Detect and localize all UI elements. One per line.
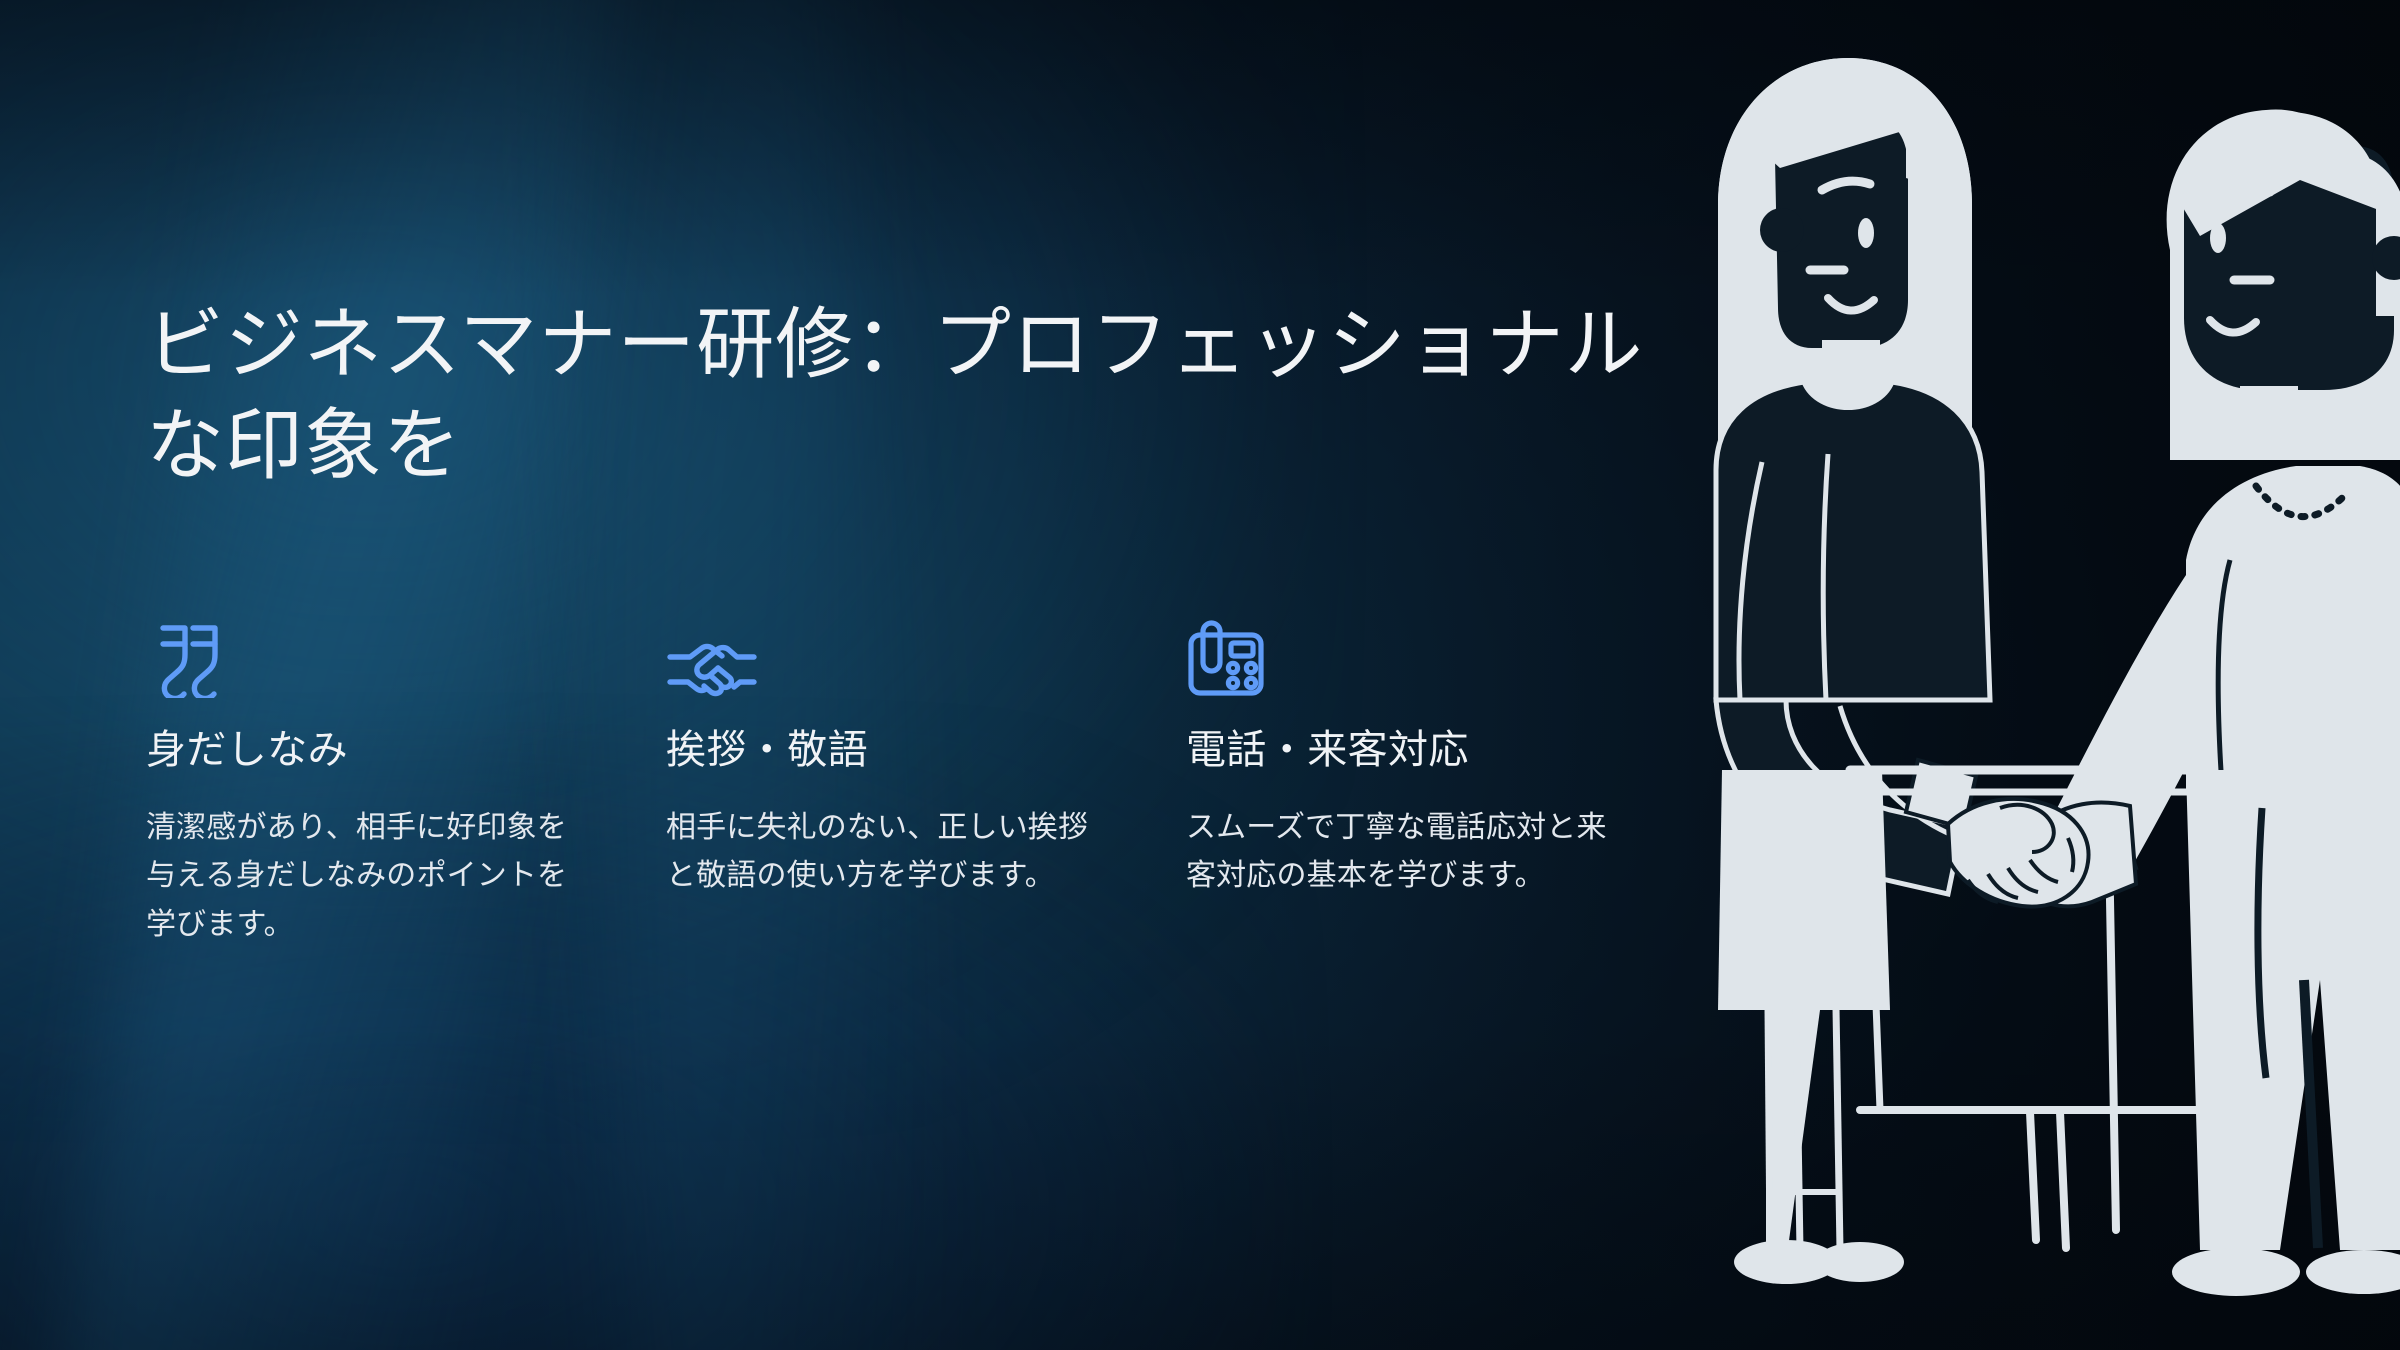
feature-item-greeting: 挨拶・敬語 相手に失礼のない、正しい挨拶と敬語の使い方を学びます。 (666, 616, 1186, 949)
feature-list: 身だしなみ 清潔感があり、相手に好印象を与える身だしなみのポイントを学びます。 (146, 616, 1706, 949)
feature-title: 身だしなみ (146, 726, 546, 776)
feature-description: 相手に失礼のない、正しい挨拶と敬語の使い方を学びます。 (666, 804, 1106, 901)
socks-icon (146, 616, 546, 698)
slide-content: ビジネスマナー研修：プロフェッショナルな印象を 身だしなみ 清潔感があり、 (146, 0, 1666, 1350)
slide-root: ビジネスマナー研修：プロフェッショナルな印象を 身だしなみ 清潔感があり、 (0, 0, 2400, 1350)
feature-title: 電話・来客対応 (1186, 726, 1586, 776)
feature-description: スムーズで丁寧な電話応対と来客対応の基本を学びます。 (1186, 804, 1626, 901)
two-people-handshake-illustration (1700, 0, 2400, 1350)
desk-phone-icon (1186, 616, 1586, 698)
handshake-icon (666, 616, 1066, 698)
feature-description: 清潔感があり、相手に好印象を与える身だしなみのポイントを学びます。 (146, 804, 586, 950)
feature-item-grooming: 身だしなみ 清潔感があり、相手に好印象を与える身だしなみのポイントを学びます。 (146, 616, 666, 949)
figure-left (1716, 58, 1990, 1284)
handshake-hands (1948, 799, 2136, 907)
feature-title: 挨拶・敬語 (666, 726, 1066, 776)
slide-title: ビジネスマナー研修：プロフェッショナルな印象を (146, 294, 1666, 497)
feature-item-phone: 電話・来客対応 スムーズで丁寧な電話応対と来客対応の基本を学びます。 (1186, 616, 1706, 949)
figure-right (2048, 110, 2400, 1296)
